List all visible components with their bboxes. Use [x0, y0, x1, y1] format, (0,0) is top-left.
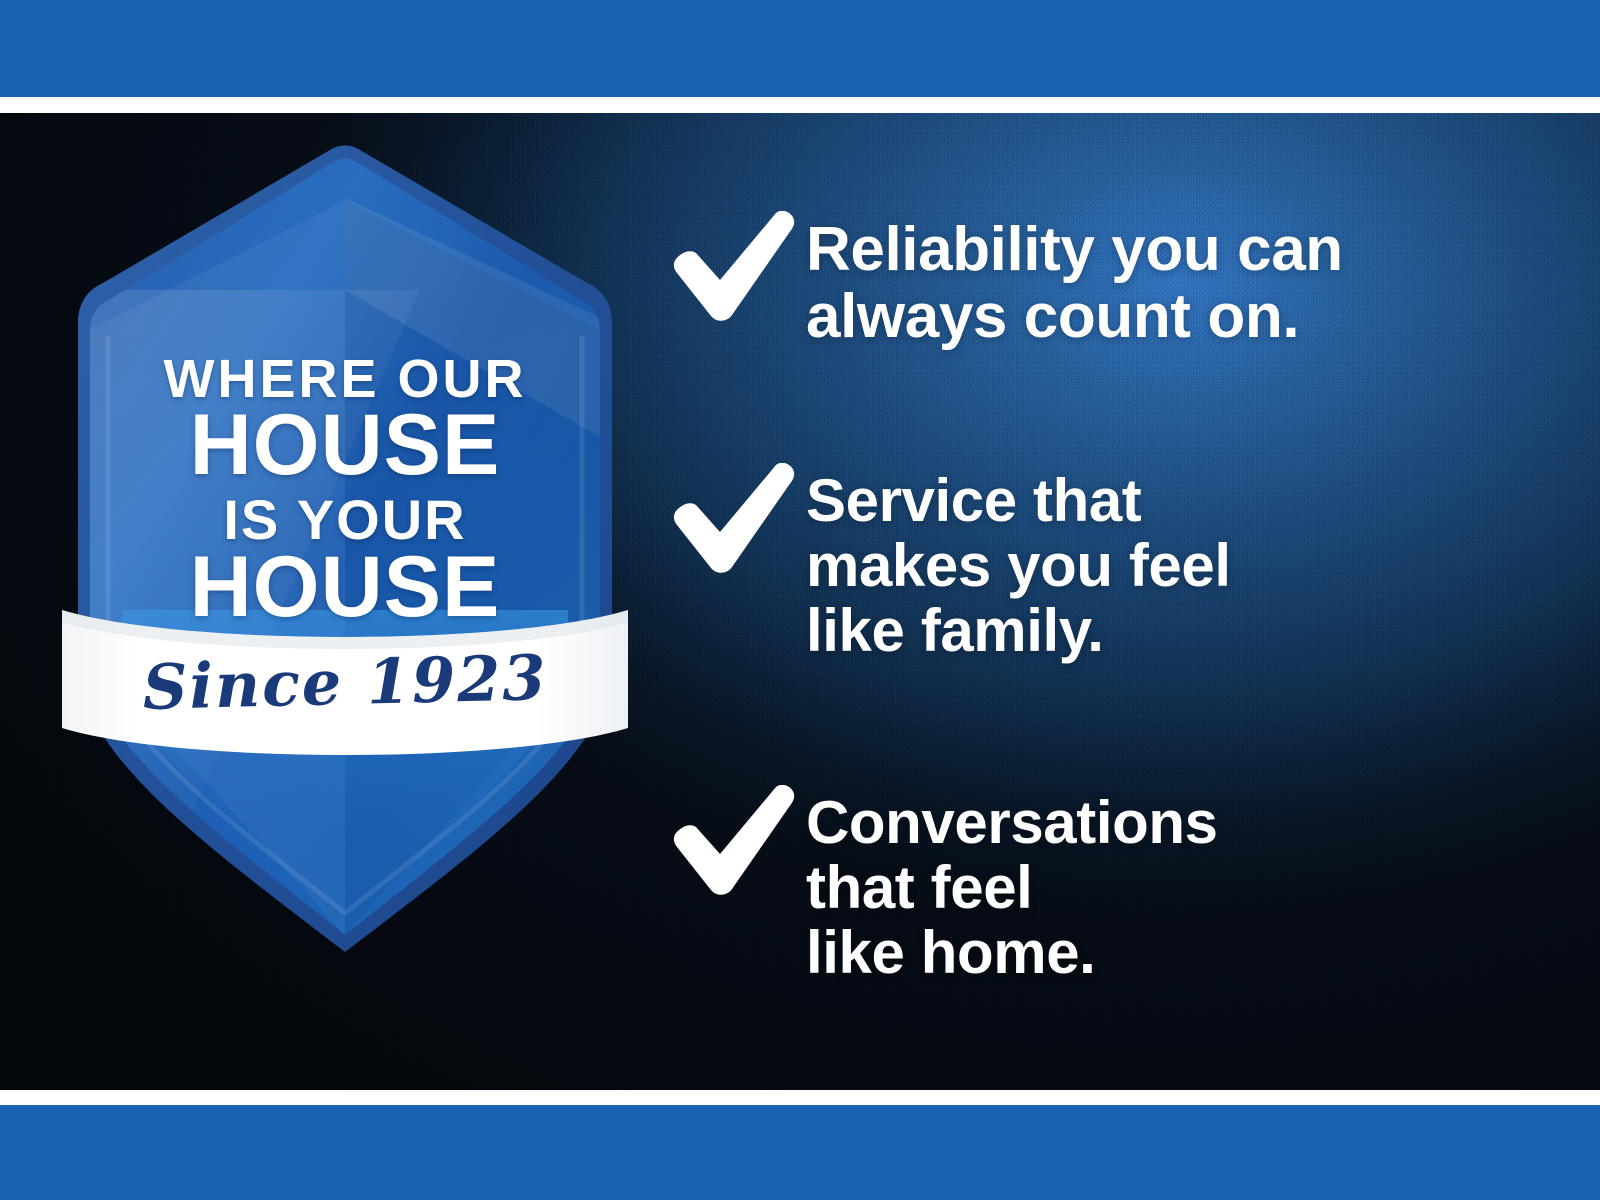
- promo-graphic: WHERE OUR HOUSE IS YOUR HOUSE Since 1923…: [0, 0, 1600, 1200]
- benefit-text: Conversations that feel like home.: [806, 785, 1530, 985]
- benefit-item: Conversations that feel like home.: [670, 785, 1530, 985]
- benefit-item: Reliability you can always count on.: [670, 211, 1530, 351]
- checkmark-glyph: [670, 211, 796, 323]
- top-white-divider: [0, 97, 1600, 113]
- checkmark-icon: [670, 463, 796, 575]
- benefits-list: Reliability you can always count on. Ser…: [670, 113, 1530, 1090]
- bottom-white-divider: [0, 1090, 1600, 1105]
- bottom-brand-bar: [0, 1105, 1600, 1200]
- checkmark-icon: [670, 211, 796, 323]
- checkmark-icon: [670, 785, 796, 897]
- benefit-item: Service that makes you feel like family.: [670, 463, 1530, 663]
- benefit-text: Reliability you can always count on.: [806, 211, 1530, 351]
- top-brand-bar: [0, 0, 1600, 97]
- shield-graphic: [60, 140, 630, 830]
- checkmark-glyph: [670, 785, 796, 897]
- benefit-text: Service that makes you feel like family.: [806, 463, 1530, 663]
- checkmark-glyph: [670, 463, 796, 575]
- shield-logo: WHERE OUR HOUSE IS YOUR HOUSE Since 1923: [60, 140, 630, 830]
